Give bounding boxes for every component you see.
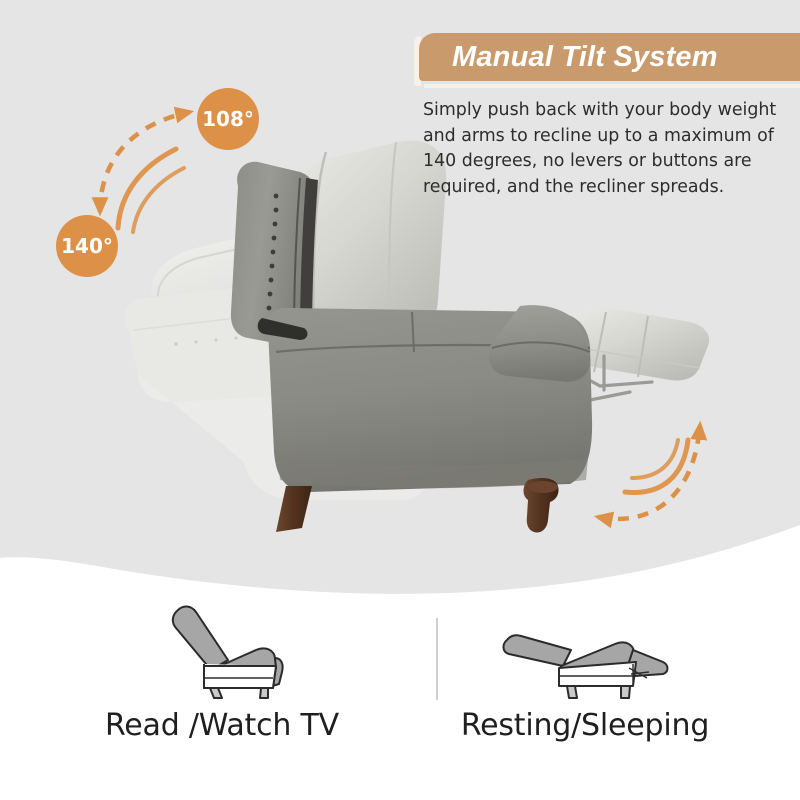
reclined-recliner-icon-svg bbox=[497, 588, 673, 700]
description-paragraph: Simply push back with your body weight a… bbox=[423, 98, 779, 200]
mode-resting-sleeping-label: Resting/Sleeping bbox=[461, 708, 709, 743]
banner-underline-accent bbox=[424, 84, 800, 88]
angle-badge-108-label: 108° bbox=[202, 109, 254, 129]
usage-modes-section: Read /Watch TV bbox=[0, 560, 800, 800]
mode-read-watch-tv-label: Read /Watch TV bbox=[105, 708, 339, 743]
upright-recliner-icon bbox=[148, 590, 296, 700]
mode-divider bbox=[436, 618, 438, 700]
infographic-root: 108° 140° bbox=[0, 0, 800, 800]
product-photo bbox=[0, 0, 800, 620]
mode-read-watch-tv: Read /Watch TV bbox=[22, 560, 422, 800]
recliner-seat-body bbox=[258, 305, 592, 492]
angle-badge-108: 108° bbox=[197, 88, 259, 150]
angle-badge-140: 140° bbox=[56, 215, 118, 277]
angle-badge-140-label: 140° bbox=[61, 236, 113, 256]
page-title: Manual Tilt System bbox=[452, 43, 718, 72]
reclined-recliner-icon bbox=[497, 590, 673, 700]
recliner-photo-illustration bbox=[0, 0, 800, 620]
upright-recliner-icon-svg bbox=[148, 588, 296, 700]
mode-resting-sleeping: Resting/Sleeping bbox=[385, 560, 785, 800]
title-banner: Manual Tilt System bbox=[419, 33, 800, 81]
